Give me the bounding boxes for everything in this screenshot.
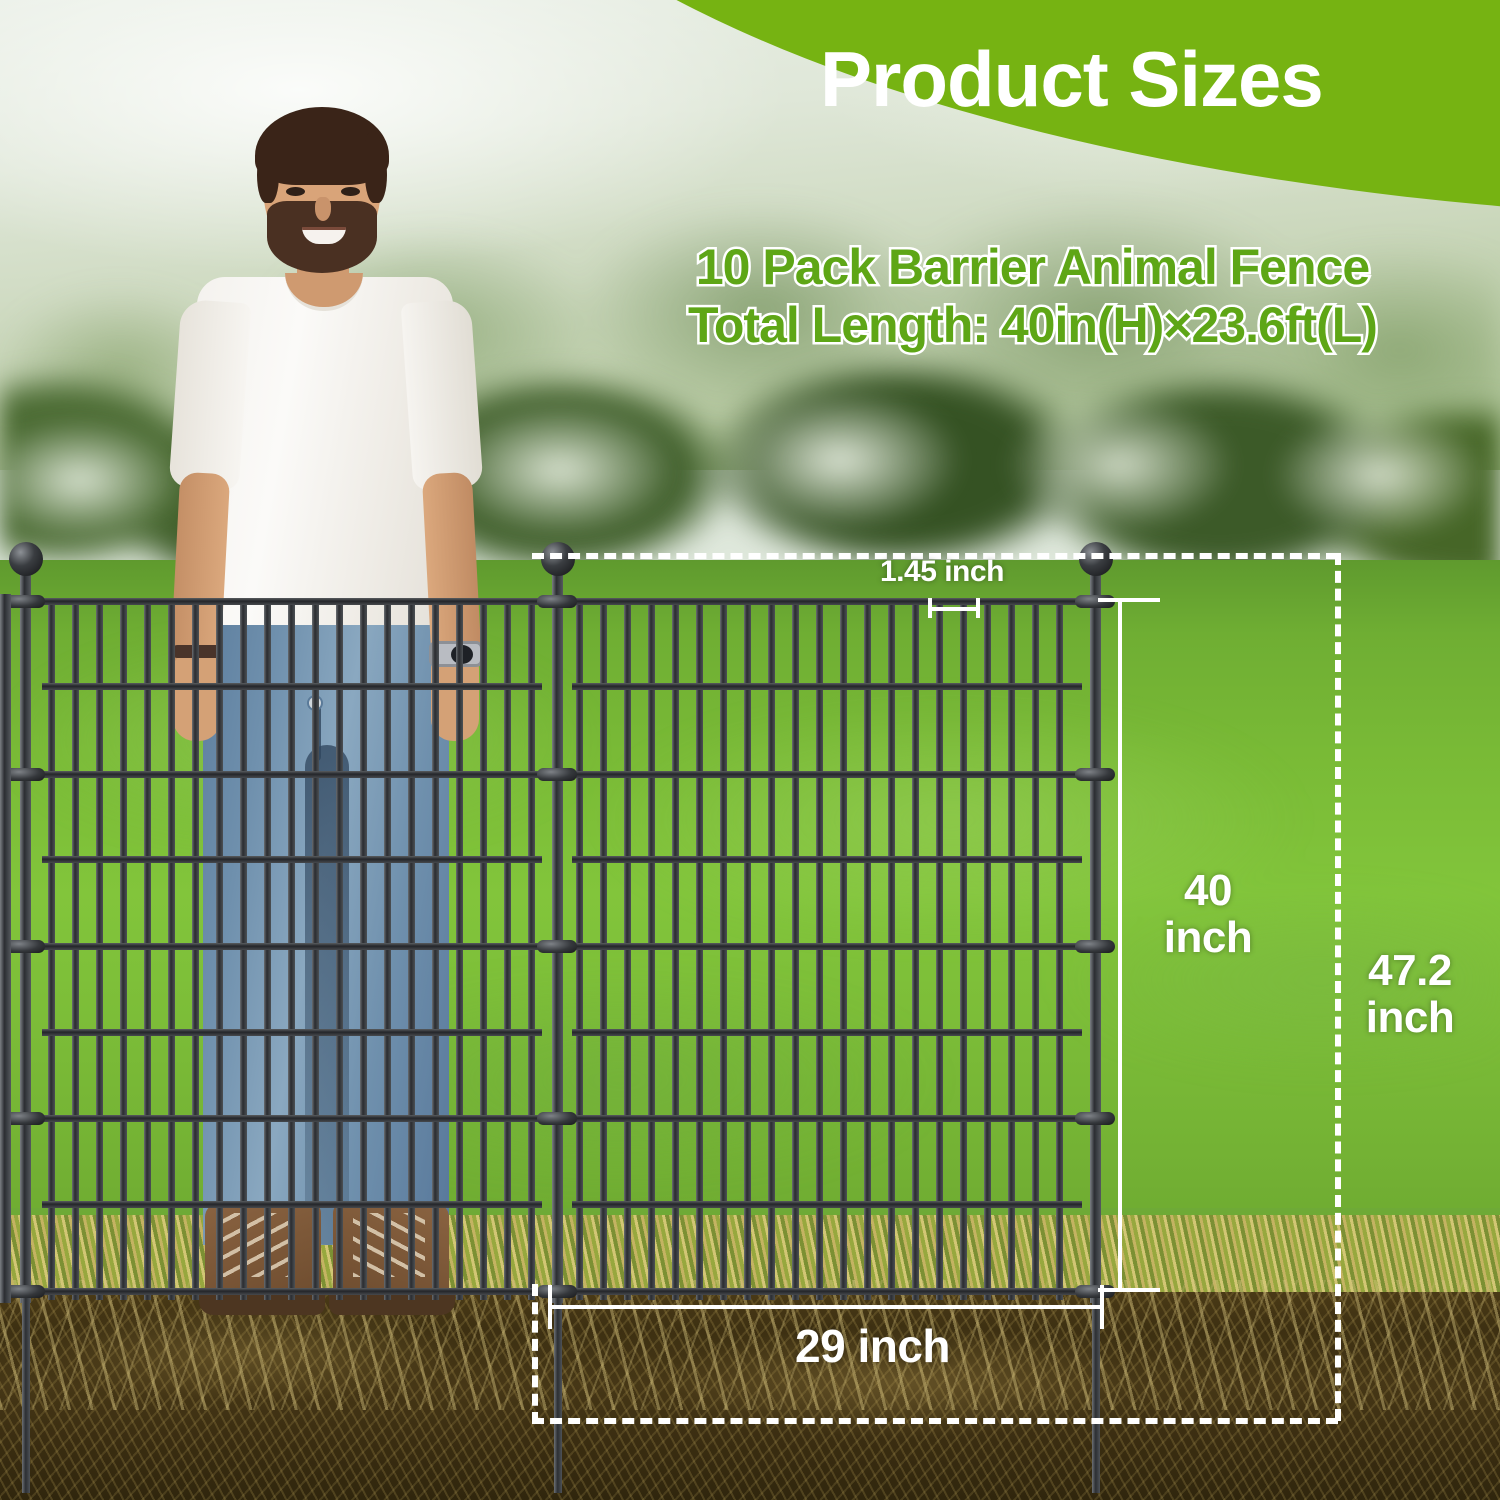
fence-rail-inner-right-0 [572, 683, 1082, 690]
subtitle-line-2: Total Length: 40in(H)×23.6ft(L) [580, 296, 1485, 354]
fence-rail-inner-left-3 [42, 1201, 542, 1208]
measure-cap-right-bar-gap [976, 598, 980, 618]
fence-rail-inner-right-1 [572, 856, 1082, 863]
ground-stake-0 [22, 1298, 30, 1493]
fence-clip-1-4 [537, 1285, 577, 1298]
measure-cap-top-40-inch [1098, 598, 1160, 602]
subtitle-line-1: 10 Pack Barrier Animal Fence [580, 238, 1485, 296]
fence-clip-0-0 [5, 595, 45, 608]
fence-clip-2-2 [1075, 940, 1115, 953]
fence-rail-inner-right-3 [572, 1201, 1082, 1208]
label-panel-width: 29 inch [795, 1322, 950, 1371]
label-bar-gap: 1.45 inch [880, 556, 1004, 588]
product-subtitle: 10 Pack Barrier Animal Fence Total Lengt… [580, 238, 1485, 354]
measure-line-bar-gap [928, 607, 980, 611]
fence-clip-1-0 [537, 595, 577, 608]
fence-finial-0 [9, 542, 43, 576]
measure-cap-bottom-40-inch [1098, 1288, 1160, 1292]
dashed-line-total-height [1335, 553, 1341, 1421]
measure-line-40-inch [1118, 598, 1122, 1290]
sleeve-left [169, 299, 252, 491]
label-total-height: 47.2 inch [1345, 948, 1475, 1041]
eye-left [286, 187, 305, 196]
fence-clip-1-1 [537, 768, 577, 781]
fence-finial-2 [1079, 542, 1113, 576]
animal-fence [0, 553, 1110, 1313]
fence-clip-0-3 [5, 1112, 45, 1125]
fence-clip-0-2 [5, 940, 45, 953]
fence-post-edge [0, 594, 11, 1303]
fence-clip-2-3 [1075, 1112, 1115, 1125]
hair-side-left [257, 133, 279, 203]
fence-clip-1-2 [537, 940, 577, 953]
measure-cap-left-bar-gap [928, 598, 932, 618]
ground-stake-2 [1092, 1298, 1100, 1493]
label-above-ground-height: 40 inch [1148, 868, 1268, 961]
fence-finial-1 [541, 542, 575, 576]
fence-rail-inner-right-2 [572, 1029, 1082, 1036]
fence-clip-0-1 [5, 768, 45, 781]
fence-rail-inner-left-0 [42, 683, 542, 690]
fence-clip-0-4 [5, 1285, 45, 1298]
product-size-infographic: 1.45 inch 40 inch 47.2 inch 29 inch Prod… [0, 0, 1500, 1500]
fence-rail-inner-left-1 [42, 856, 542, 863]
measure-cap-left-29-inch [548, 1285, 552, 1329]
fence-clip-1-3 [537, 1112, 577, 1125]
ground-stake-1 [554, 1298, 562, 1493]
fence-rail-inner-left-2 [42, 1029, 542, 1036]
dashed-line-bottom [532, 1418, 1338, 1424]
measure-line-29-inch [548, 1305, 1104, 1309]
nose [315, 197, 331, 221]
sleeve-right [401, 299, 484, 491]
dashed-line-left-tick [532, 1284, 538, 1424]
fence-clip-2-1 [1075, 768, 1115, 781]
measure-cap-right-29-inch [1100, 1285, 1104, 1329]
eye-right [341, 187, 360, 196]
